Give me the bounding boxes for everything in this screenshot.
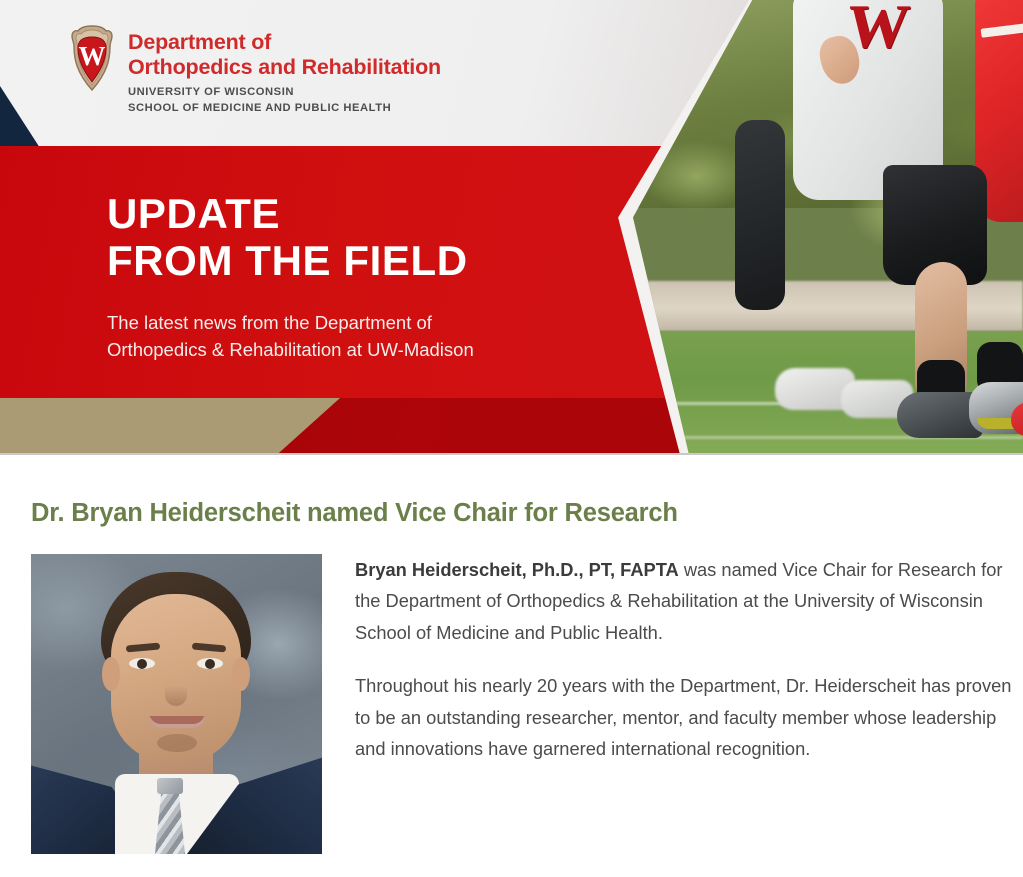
banner-title: UPDATE FROM THE FIELD [107, 190, 474, 284]
headshot-ear-right [232, 657, 250, 691]
banner-subtitle-line2: Orthopedics & Rehabilitation at UW-Madis… [107, 337, 474, 364]
article-section: Dr. Bryan Heiderscheit named Vice Chair … [0, 455, 1023, 854]
banner-title-line1: UPDATE [107, 190, 474, 237]
department-logo[interactable]: W Department of Orthopedics and Rehabili… [68, 24, 441, 117]
uw-crest-icon: W [68, 24, 116, 92]
headshot-pupil-left [137, 659, 147, 669]
logo-university-line: UNIVERSITY OF WISCONSIN [128, 85, 441, 101]
banner-copy: UPDATE FROM THE FIELD The latest news fr… [107, 190, 474, 363]
runner-background-leg [735, 120, 785, 310]
headshot-nose [165, 672, 187, 706]
headshot-chin [157, 734, 197, 752]
logo-department-line1: Department of [128, 30, 441, 55]
banner-subtitle: The latest news from the Department of O… [107, 310, 474, 363]
article-body: Bryan Heiderscheit, Ph.D., PT, FAPTA was… [0, 554, 1023, 854]
article-paragraph-1: Bryan Heiderscheit, Ph.D., PT, FAPTA was… [355, 554, 1015, 648]
headshot-mouth [149, 716, 205, 728]
headshot-tie-knot [157, 778, 183, 794]
article-text-column: Bryan Heiderscheit, Ph.D., PT, FAPTA was… [355, 554, 1015, 787]
logo-wordmark: Department of Orthopedics and Rehabilita… [128, 24, 441, 117]
headshot-ear-left [102, 657, 120, 691]
article-headline: Dr. Bryan Heiderscheit named Vice Chair … [31, 499, 1023, 528]
article-lead-name: Bryan Heiderscheit, Ph.D., PT, FAPTA [355, 559, 679, 580]
banner-title-line2: FROM THE FIELD [107, 237, 474, 284]
logo-school-line: SCHOOL OF MEDICINE AND PUBLIC HEALTH [128, 101, 441, 117]
headshot-pupil-right [205, 659, 215, 669]
svg-text:W: W [79, 41, 106, 71]
article-paragraph-2: Throughout his nearly 20 years with the … [355, 670, 1015, 764]
logo-department-line2: Orthopedics and Rehabilitation [128, 55, 441, 80]
headshot-photo [31, 554, 322, 854]
hero-banner: W W Depart [0, 0, 1023, 455]
banner-subtitle-line1: The latest news from the Department of [107, 310, 474, 337]
